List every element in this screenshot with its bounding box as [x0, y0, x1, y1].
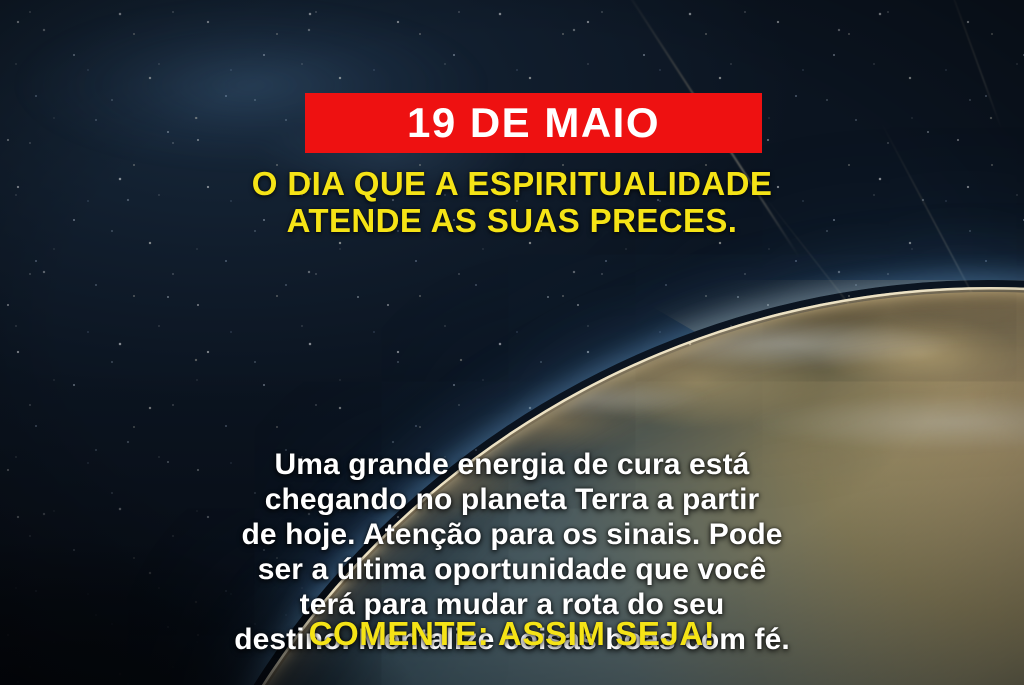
body-line-1: Uma grande energia de cura está [0, 447, 1024, 482]
poster-canvas: 19 DE MAIO O DIA QUE A ESPIRITUALIDADE A… [0, 0, 1024, 685]
headline: O DIA QUE A ESPIRITUALIDADE ATENDE AS SU… [0, 166, 1024, 240]
body-line-2: chegando no planeta Terra a partir [0, 482, 1024, 517]
call-to-action-label: COMENTE: ASSIM SEJA! [0, 616, 1024, 652]
poster-content: 19 DE MAIO O DIA QUE A ESPIRITUALIDADE A… [0, 0, 1024, 685]
date-banner-label: 19 DE MAIO [407, 102, 660, 144]
body-line-3: de hoje. Atenção para os sinais. Pode [0, 517, 1024, 552]
headline-line-2: ATENDE AS SUAS PRECES. [0, 203, 1024, 240]
headline-line-1: O DIA QUE A ESPIRITUALIDADE [0, 166, 1024, 203]
date-banner: 19 DE MAIO [305, 93, 762, 153]
body-line-4: ser a última oportunidade que você [0, 552, 1024, 587]
